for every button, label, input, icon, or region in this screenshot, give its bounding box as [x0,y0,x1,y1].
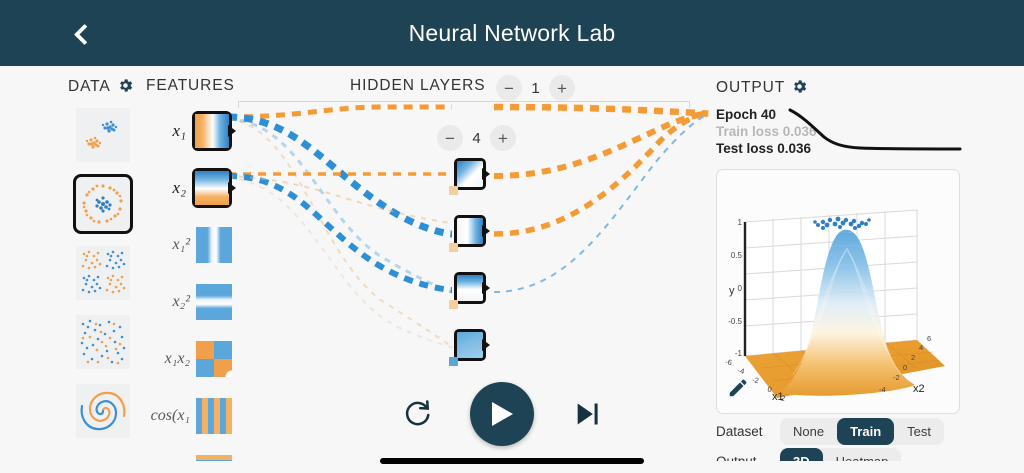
neuron-output-nub [482,282,490,294]
data-label: DATA [68,78,111,95]
svg-text:-6: -6 [724,357,732,367]
output-label: OUTPUT [716,79,785,96]
feature-label: x₁² [173,236,190,254]
features-section-header: FEATURES [146,77,235,95]
neuron-bias[interactable] [449,243,458,252]
svg-text:-0.5: -0.5 [728,317,742,326]
increase-layers-button[interactable]: + [549,75,575,101]
page-title: Neural Network Lab [409,20,616,47]
feature-x1x2[interactable]: x₁x₂ [148,330,232,387]
neuron-bias[interactable] [449,300,458,309]
data-section-header: DATA [68,77,134,99]
svg-text:0: 0 [903,363,907,372]
transport-controls [400,382,604,446]
neuron-bias[interactable] [449,357,458,366]
layer-count-value: 1 [531,80,540,97]
gear-icon[interactable] [117,77,134,99]
neuron-list [454,158,486,386]
loss-curve-chart [786,104,966,154]
step-forward-button[interactable] [570,397,604,431]
dataset-random-noise[interactable] [76,315,130,369]
feature-output-nub [228,182,236,194]
svg-text:0.5: 0.5 [731,251,743,260]
neuron-output-nub [482,339,490,351]
dataset-list [76,108,132,453]
reset-button[interactable] [400,397,434,431]
gear-icon[interactable] [791,78,808,100]
output-plot-card[interactable]: 10.5 0-0.5-1 y -6-4-2 02 x1 642 0-2-4 x2 [716,169,960,414]
feature-swatch-x1 [192,111,232,151]
feature-swatch-x2 [192,168,232,208]
neuron-count-stepper: − 4 + [437,125,516,151]
neuron-1[interactable] [454,158,486,190]
feature-x2-squared[interactable]: x₂² [148,273,232,330]
dataset-quadrants-xor[interactable] [76,246,130,300]
svg-text:1: 1 [738,218,743,227]
play-button[interactable] [470,382,534,446]
feature-x1-squared[interactable]: x₁² [148,216,232,273]
svg-text:2: 2 [911,353,915,362]
app-header: Neural Network Lab [0,0,1024,66]
feature-x2[interactable]: x₂ [148,159,232,216]
svg-text:-1: -1 [735,349,743,358]
dataset-option-test[interactable]: Test [894,418,944,445]
feature-list: x₁ x₂ x₁² x₂² x₁x₂ [148,102,232,473]
dataset-option-train[interactable]: Train [837,418,894,445]
feature-cos-x1[interactable]: cos(x₁ [148,387,232,444]
feature-label: x₂² [173,293,190,311]
neuron-2[interactable] [454,215,486,247]
pencil-icon[interactable] [727,377,749,404]
feature-x1[interactable]: x₁ [148,102,232,159]
feature-swatch-x1sq [196,227,232,263]
y-axis-label: y [729,285,735,297]
back-button[interactable] [62,12,106,56]
x2-axis-label: x2 [913,383,925,395]
hidden-layers-label: HIDDEN LAYERS [350,77,485,94]
dataset-spiral[interactable] [76,384,130,438]
neuron-3[interactable] [454,272,486,304]
dataset-two-gaussian[interactable] [76,108,130,162]
neuron-bias[interactable] [449,186,458,195]
increase-neurons-button[interactable]: + [490,125,516,151]
step-forward-icon [573,400,601,428]
dataset-option-none[interactable]: None [780,418,837,445]
svg-text:-4: -4 [879,385,886,394]
surface-plot-3d: 10.5 0-0.5-1 y -6-4-2 02 x1 642 0-2-4 x2 [717,170,959,413]
x1-axis-label: x1 [772,391,784,403]
feature-swatch-x2sq [196,284,232,320]
features-label: FEATURES [146,77,235,94]
layer-count-stepper: − 1 + [496,75,575,101]
svg-text:4: 4 [919,343,923,352]
main-stage: DATA [0,66,1024,461]
svg-text:-4: -4 [737,366,745,376]
neuron-output-nub [482,168,490,180]
feature-label: x₁x₂ [165,350,190,368]
dataset-toggle-group: None Train Test [780,418,944,445]
output-section-header: OUTPUT [716,78,808,100]
neuron-4[interactable] [454,329,486,361]
home-indicator[interactable] [380,458,644,464]
hidden-layers-bracket [238,101,690,102]
feature-label: x₂ [173,178,186,198]
svg-text:6: 6 [927,334,931,343]
svg-text:0: 0 [738,284,743,293]
decrease-layers-button[interactable]: − [496,75,522,101]
svg-text:-2: -2 [893,373,900,382]
feature-swatch-x1x2 [196,341,232,377]
neuron-output-nub [482,225,490,237]
dataset-circle[interactable] [76,177,130,231]
feature-swatch-cosx1 [196,398,232,434]
feature-label: cos(x₁ [151,407,190,425]
decrease-neurons-button[interactable]: − [437,125,463,151]
chevron-left-icon [73,23,94,44]
neuron-count-value: 4 [472,130,481,147]
feature-label: x₁ [173,121,186,141]
play-icon [489,400,515,428]
dataset-toggle-label: Dataset [716,424,770,439]
svg-text:-2: -2 [751,375,759,385]
hidden-layers-header: HIDDEN LAYERS [350,77,485,95]
dataset-toggle-row: Dataset None Train Test [716,418,944,445]
feature-output-nub [228,125,236,137]
